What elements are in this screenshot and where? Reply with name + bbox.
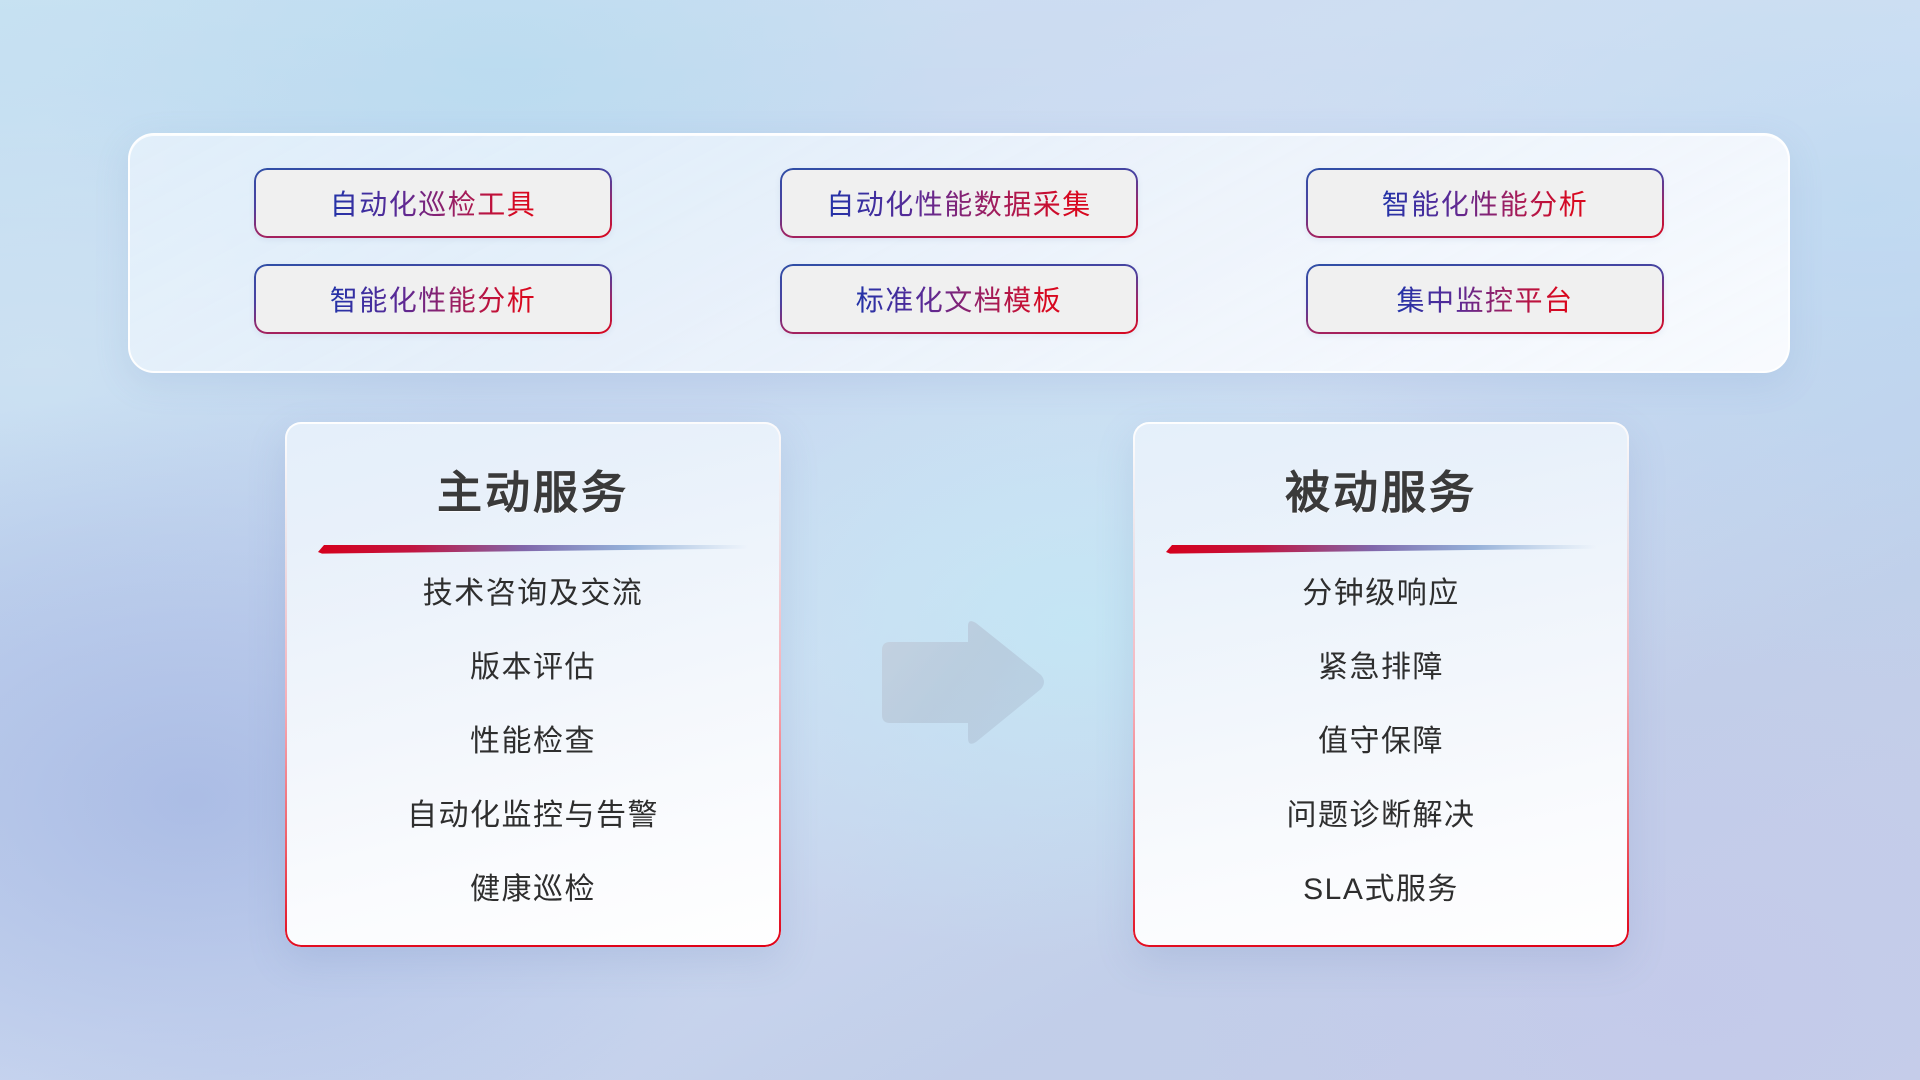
capability-pill-label: 自动化性能数据采集 bbox=[826, 183, 1092, 223]
capability-pill-label: 智能化性能分析 bbox=[330, 279, 537, 319]
capability-pill[interactable]: 智能化性能分析 bbox=[1306, 168, 1664, 238]
card-list-item: 健康巡检 bbox=[315, 864, 751, 908]
capability-pill-label: 标准化文档模板 bbox=[856, 279, 1063, 319]
card-list-item: 版本评估 bbox=[315, 642, 751, 686]
service-card-active: 主动服务 技术咨询及交流 版本评估 性能检查 自动化监控与告警 bbox=[285, 422, 781, 947]
card-list-item: 分钟级响应 bbox=[1163, 568, 1599, 612]
card-list-item: 紧急排障 bbox=[1163, 642, 1599, 686]
card-item-list: 分钟级响应 紧急排障 值守保障 问题诊断解决 SLA式服务 bbox=[1163, 568, 1599, 926]
capability-pill[interactable]: 智能化性能分析 bbox=[254, 264, 612, 334]
capability-pill-label: 智能化性能分析 bbox=[1382, 183, 1589, 223]
capability-pill[interactable]: 自动化巡检工具 bbox=[254, 168, 612, 238]
capability-pill[interactable]: 标准化文档模板 bbox=[780, 264, 1138, 334]
card-divider bbox=[318, 543, 748, 554]
capability-panel: 自动化巡检工具 自动化性能数据采集 智能化性能分析 智能化性能分析 标准化文档模… bbox=[128, 133, 1790, 373]
capability-pill-label: 集中监控平台 bbox=[1396, 279, 1573, 319]
card-divider bbox=[1166, 543, 1596, 554]
card-title: 被动服务 bbox=[1285, 456, 1477, 521]
card-list-item: 技术咨询及交流 bbox=[315, 568, 751, 612]
service-card-passive: 被动服务 分钟级响应 紧急排障 值守保障 问题诊断解决 bbox=[1133, 422, 1629, 947]
card-list-item: 自动化监控与告警 bbox=[315, 790, 751, 834]
card-list-item: 性能检查 bbox=[315, 716, 751, 760]
capability-pill[interactable]: 集中监控平台 bbox=[1306, 264, 1664, 334]
card-list-item: 值守保障 bbox=[1163, 716, 1599, 760]
capability-pill[interactable]: 自动化性能数据采集 bbox=[780, 168, 1138, 238]
card-list-item: SLA式服务 bbox=[1163, 864, 1599, 908]
card-title: 主动服务 bbox=[437, 456, 629, 521]
card-item-list: 技术咨询及交流 版本评估 性能检查 自动化监控与告警 健康巡检 bbox=[315, 568, 751, 926]
capability-pill-label: 自动化巡检工具 bbox=[330, 183, 537, 223]
card-list-item: 问题诊断解决 bbox=[1163, 790, 1599, 834]
arrow-right-icon bbox=[872, 618, 1047, 748]
